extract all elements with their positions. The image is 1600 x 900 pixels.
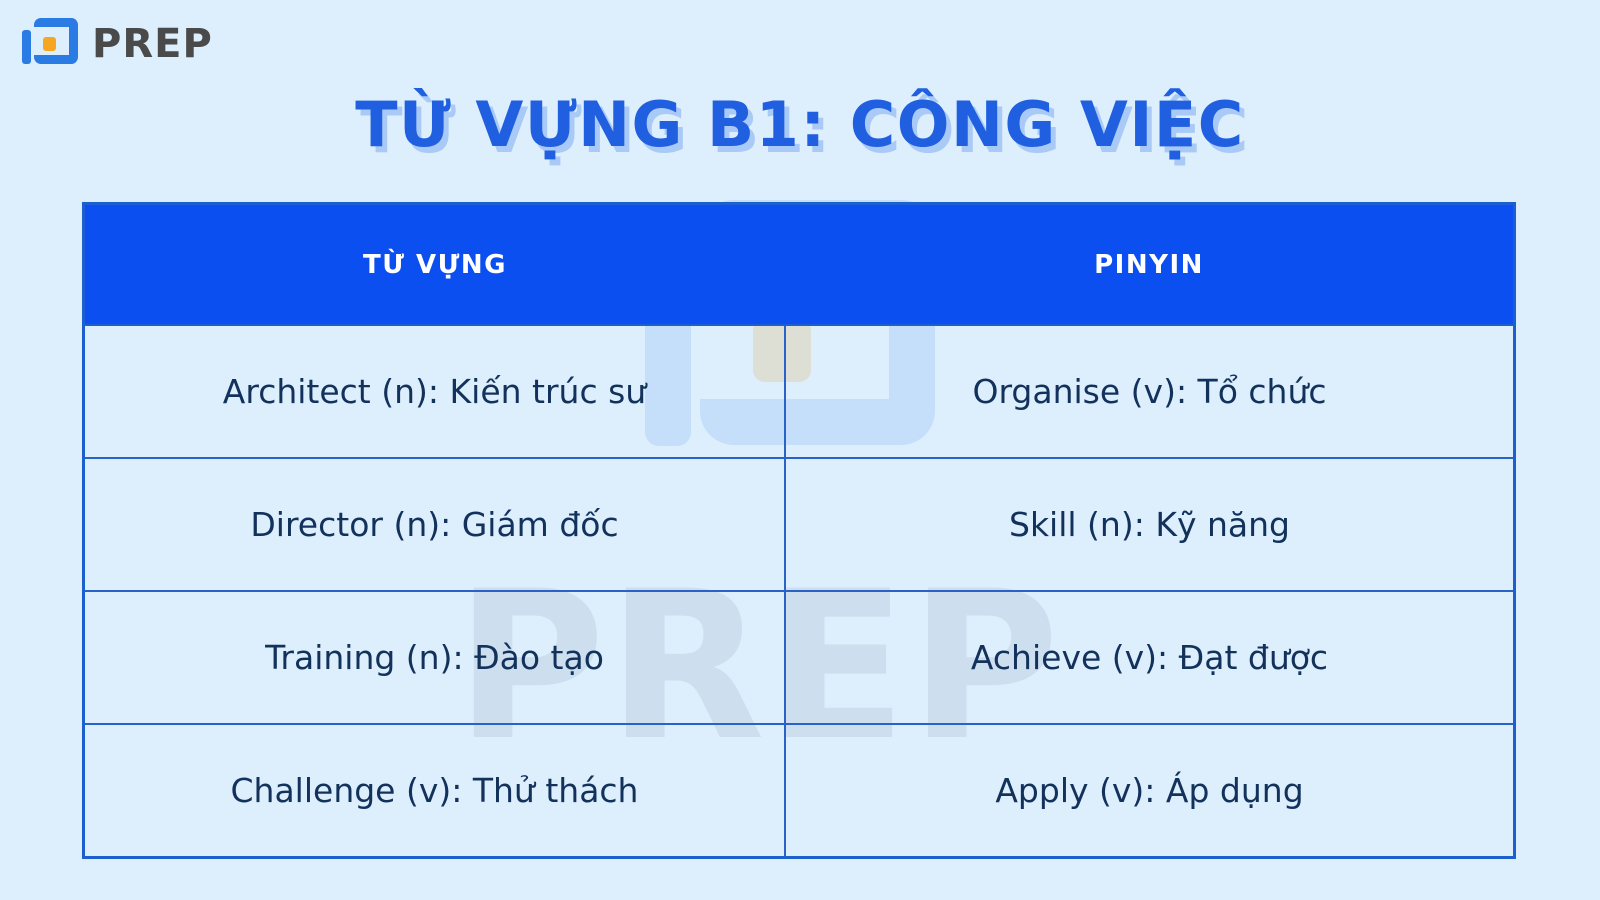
- brand-header[interactable]: PREP: [22, 18, 213, 70]
- table-cell-pinyin: Achieve (v): Đạt được: [785, 591, 1515, 724]
- brand-name: PREP: [92, 24, 213, 64]
- table-row: Director (n): Giám đốc Skill (n): Kỹ năn…: [84, 458, 1515, 591]
- table-header-row: TỪ VỰNG PINYIN: [84, 204, 1515, 326]
- table-row: Training (n): Đào tạo Achieve (v): Đạt đ…: [84, 591, 1515, 724]
- table-cell-pinyin: Skill (n): Kỹ năng: [785, 458, 1515, 591]
- table-cell-vocabulary: Training (n): Đào tạo: [84, 591, 786, 724]
- table-cell-vocabulary: Challenge (v): Thử thách: [84, 724, 786, 857]
- prep-logo-icon: [22, 18, 78, 70]
- vocabulary-table: TỪ VỰNG PINYIN Architect (n): Kiến trúc …: [82, 202, 1516, 859]
- column-header-pinyin: PINYIN: [785, 204, 1515, 326]
- table-cell-pinyin: Organise (v): Tổ chức: [785, 325, 1515, 458]
- page-title: TỪ VỰNG B1: CÔNG VIỆC: [0, 88, 1600, 161]
- table-row: Challenge (v): Thử thách Apply (v): Áp d…: [84, 724, 1515, 857]
- vocabulary-infographic-page: PREP PREP TỪ VỰNG B1: CÔNG VIỆC TỪ VỰNG …: [0, 0, 1600, 900]
- table-cell-vocabulary: Director (n): Giám đốc: [84, 458, 786, 591]
- column-header-vocabulary: TỪ VỰNG: [84, 204, 786, 326]
- table-cell-vocabulary: Architect (n): Kiến trúc sư: [84, 325, 786, 458]
- table-row: Architect (n): Kiến trúc sư Organise (v)…: [84, 325, 1515, 458]
- table-cell-pinyin: Apply (v): Áp dụng: [785, 724, 1515, 857]
